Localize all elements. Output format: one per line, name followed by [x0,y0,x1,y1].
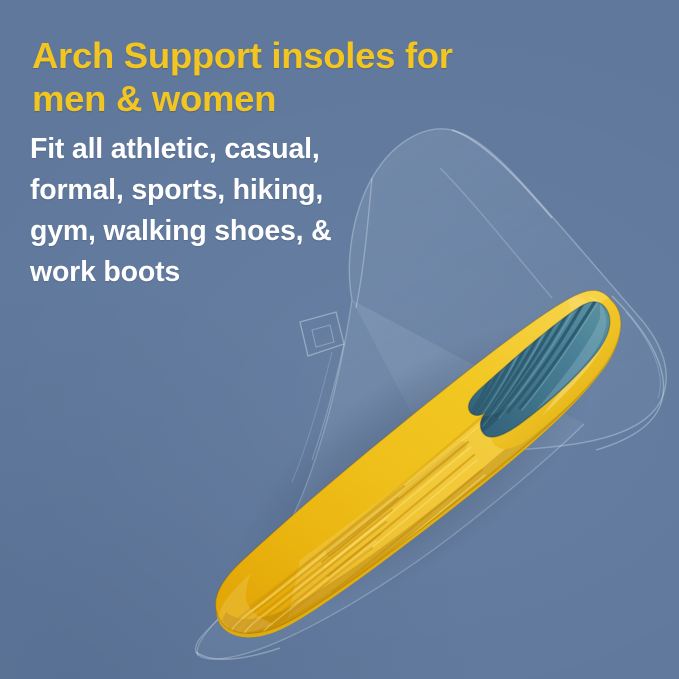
heel-pad [468,302,609,437]
heel-pad-grooves [462,300,596,428]
toe-ring-highlights [231,492,401,644]
insole-body [216,290,621,633]
arch-ridge-lines [322,442,490,606]
product-ad-canvas: Arch Support insoles for men & women Fit… [0,0,679,679]
product-shadow [186,269,642,671]
arch-ridge-highlights [325,447,485,597]
heel-rim [491,299,621,449]
insole-side-wall [217,300,621,637]
heel-pad-groove-highlights [471,302,598,430]
copy-block: Arch Support insoles for men & women Fit… [30,34,570,293]
page-title: Arch Support insoles for men & women [32,34,570,120]
subheading-text: Fit all athletic, casual, formal, sports… [30,129,570,293]
toe-concentric-rings [228,486,404,645]
